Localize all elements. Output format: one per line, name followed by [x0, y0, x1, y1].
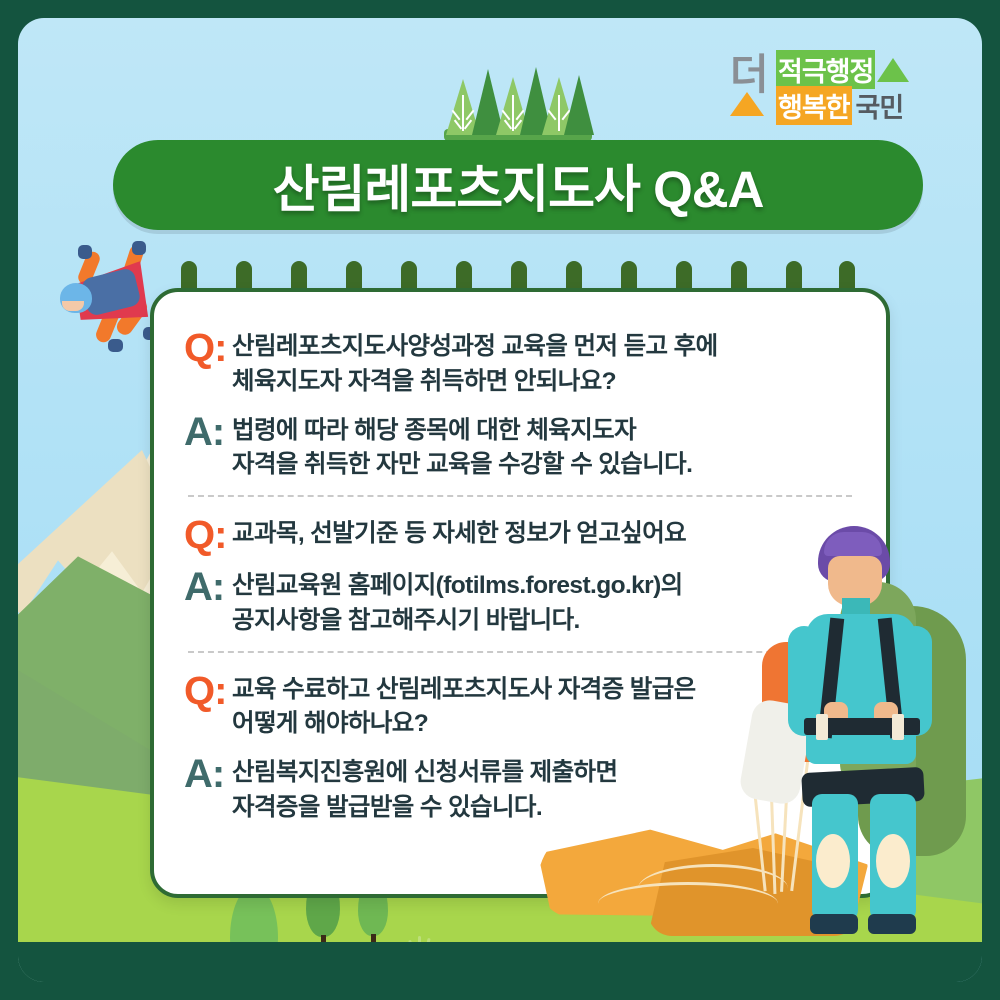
answer-text: 법령에 따라 해당 종목에 대한 체육지도자 자격을 취득한 자만 교육을 수강… [232, 410, 856, 484]
answer-marker: A: [184, 752, 232, 794]
title-banner: 산림레포츠지도사 Q&A [113, 140, 923, 230]
page-title: 산림레포츠지도사 Q&A [273, 148, 764, 222]
answer-text: 산림교육원 홈페이지(fotilms.forest.go.kr)의 공지사항을 … [232, 565, 856, 639]
bottom-border-strip [18, 942, 982, 982]
logo-line2-plain-text: 국민 [856, 86, 904, 125]
question-text: 교과목, 선발기준 등 자세한 정보가 얻고싶어요 [232, 513, 856, 552]
card-frame: 더 적극행정 행복한 국민 산림레포츠지도사 Q&A [18, 18, 982, 982]
qa-block: Q: 산림레포츠지도사양성과정 교육을 먼저 듣고 후에 체육지도자 자격을 취… [184, 326, 856, 483]
answer-line: 공지사항을 참고해주시기 바랍니다. [232, 604, 856, 639]
answer-row: A: 법령에 따라 해당 종목에 대한 체육지도자 자격을 취득한 자만 교육을… [184, 410, 856, 484]
answer-marker: A: [184, 565, 232, 607]
question-row: Q: 산림레포츠지도사양성과정 교육을 먼저 듣고 후에 체육지도자 자격을 취… [184, 326, 856, 400]
logo-line2-highlight-text: 행복한 [776, 86, 852, 125]
paraglider-pilot-icon [780, 522, 960, 942]
logo-prefix-text: 더 [730, 54, 767, 96]
question-marker: Q: [184, 513, 232, 555]
question-text: 산림레포츠지도사양성과정 교육을 먼저 듣고 후에 체육지도자 자격을 취득하면… [232, 326, 856, 400]
answer-line: 법령에 따라 해당 종목에 대한 체육지도자 [232, 414, 856, 449]
government-logo: 더 적극행정 행복한 국민 [730, 48, 944, 126]
answer-line: 자격을 취득한 자만 교육을 수강할 수 있습니다. [232, 448, 856, 483]
logo-mountain-green-icon [877, 58, 909, 82]
logo-line1-text: 적극행정 [776, 50, 875, 89]
infographic-card: 더 적극행정 행복한 국민 산림레포츠지도사 Q&A [0, 0, 1000, 1000]
qa-block: Q: 교과목, 선발기준 등 자세한 정보가 얻고싶어요 A: 산림교육원 홈페… [184, 513, 856, 639]
section-divider [188, 651, 852, 653]
question-line: 교과목, 선발기준 등 자세한 정보가 얻고싶어요 [232, 517, 856, 552]
question-line: 체육지도자 자격을 취득하면 안되나요? [232, 365, 856, 400]
section-divider [188, 495, 852, 497]
question-line: 산림레포츠지도사양성과정 교육을 먼저 듣고 후에 [232, 330, 856, 365]
question-marker: Q: [184, 669, 232, 711]
answer-marker: A: [184, 410, 232, 452]
question-row: Q: 교과목, 선발기준 등 자세한 정보가 얻고싶어요 [184, 513, 856, 555]
answer-row: A: 산림교육원 홈페이지(fotilms.forest.go.kr)의 공지사… [184, 565, 856, 639]
logo-mountain-orange-icon [730, 92, 764, 116]
pine-tree-cluster-icon [438, 66, 598, 141]
answer-line: 산림교육원 홈페이지(fotilms.forest.go.kr)의 [232, 569, 856, 604]
question-marker: Q: [184, 326, 232, 368]
